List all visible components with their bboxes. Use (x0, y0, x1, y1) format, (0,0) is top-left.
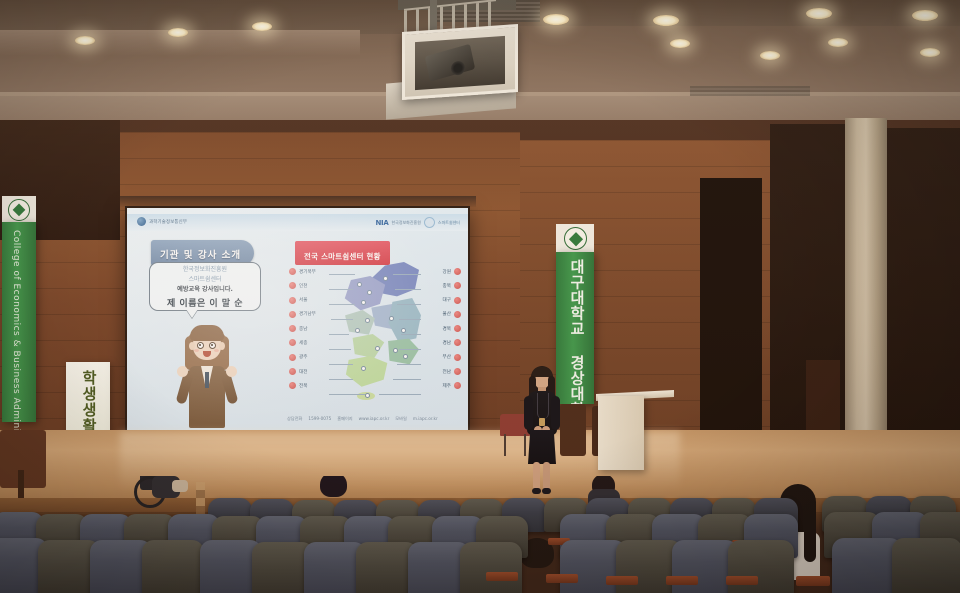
footer-mobile-label: 모바일 (395, 416, 407, 422)
map-pin-icon (454, 282, 461, 289)
seat[interactable] (460, 542, 522, 593)
ceiling-vent-2 (690, 86, 810, 96)
map-pin-icon (289, 311, 296, 318)
instructor-cartoon-illustration (174, 320, 240, 430)
map-pin-icon (454, 268, 461, 275)
map-leader-line (393, 379, 421, 380)
ceiling-light (653, 15, 679, 26)
map-pin-icon (289, 282, 296, 289)
ceiling-light (760, 51, 780, 60)
map-leader-line (329, 289, 353, 290)
map-label-text: 서울 (299, 297, 307, 303)
map-label-item: 전북 (289, 382, 307, 389)
structural-pillar (845, 118, 887, 448)
korea-map-panel: 경기북부 인천 서울 경기남부 충남 세종 광주 대전 전북 강원 충북 대구 … (287, 256, 463, 421)
map-label-item: 제주 (443, 382, 461, 389)
map-pin-icon (289, 339, 296, 346)
seat-armrest (546, 574, 578, 583)
map-leader-line (379, 394, 421, 395)
presenter-dress (528, 430, 556, 464)
map-label-item: 광주 (289, 354, 307, 361)
map-region-jeonnam (345, 356, 391, 388)
speech-bubble: 한국정보화진흥원 스마트쉼센터 예방교육 강사입니다. 제 이름은 이 말 순 (149, 262, 261, 311)
map-label-item: 충남 (289, 325, 307, 332)
map-label-text: 부산 (443, 354, 451, 360)
nia-logo-text: NIA (375, 219, 388, 227)
map-leader-line (399, 349, 421, 350)
map-label-text: 대전 (299, 369, 307, 375)
map-pin-icon (454, 354, 461, 361)
ceiling-light (912, 10, 938, 21)
map-label-text: 전남 (443, 369, 451, 375)
map-label-item: 경기남부 (289, 311, 316, 318)
map-label-item: 강원 (443, 268, 461, 275)
map-labels-right: 강원 충북 대구 울산 경북 경남 부산 전남 제주 (443, 268, 461, 389)
ministry-logo-icon (137, 217, 146, 226)
map-leader-line (331, 319, 353, 320)
banner-daegu-university-text: 대구대학교 경상대학 (567, 259, 588, 417)
cartoon-hand-right (226, 366, 237, 377)
attendee-arm (172, 480, 188, 492)
map-leader-line (397, 364, 421, 365)
seat[interactable] (892, 538, 960, 593)
presentation-slide: 과학기술정보통신부 NIA 한국정보화진흥원 스마트쉼센터 기관 및 강사 소개… (127, 208, 468, 436)
audience-seating (0, 476, 960, 593)
seat-armrest (486, 572, 518, 581)
ceiling-light (806, 8, 832, 19)
map-pin-icon (454, 339, 461, 346)
map-label-item: 전남 (443, 368, 461, 375)
map-leader-line (329, 379, 353, 380)
map-label-item: 서울 (289, 297, 307, 304)
seat[interactable] (142, 540, 204, 593)
cartoon-ear-right (219, 342, 225, 350)
map-label-text: 제주 (443, 383, 451, 389)
map-leader-line (329, 334, 349, 335)
korea-map-graphic (335, 262, 419, 402)
ceiling-recess-left (0, 0, 430, 34)
map-pin-icon (289, 297, 296, 304)
map-leader-line (329, 394, 365, 395)
nia-logo-subtext: 한국정보화진흥원 (391, 220, 420, 226)
auditorium-scene: College of Economics & Business Administ… (0, 0, 960, 593)
map-pin-icon (289, 268, 296, 275)
map-label-item: 인천 (289, 282, 307, 289)
ceiling-light (828, 38, 848, 47)
map-label-text: 전북 (299, 383, 307, 389)
map-label-text: 광주 (299, 354, 307, 360)
footer-phone: 1599-0075 (308, 416, 331, 422)
ceiling-light (168, 28, 188, 37)
smartshim-logo-icon (424, 217, 435, 228)
ceiling-light (920, 48, 940, 57)
map-leader-line (399, 319, 421, 320)
map-pin-icon (289, 354, 296, 361)
stage-wooden-chair (560, 404, 586, 456)
attendee-hair-strand (804, 514, 816, 562)
projection-screen: 과학기술정보통신부 NIA 한국정보화진흥원 스마트쉼센터 기관 및 강사 소개… (127, 208, 468, 436)
cartoon-tie (205, 372, 209, 388)
presenter-arm-right (551, 396, 560, 430)
map-label-text: 대구 (443, 297, 451, 303)
footer-mobile: m.iapc.or.kr (413, 416, 438, 422)
ceiling-light (670, 39, 690, 48)
map-pin-icon (289, 368, 296, 375)
ceiling-light (75, 36, 95, 45)
lectern (598, 396, 644, 470)
speech-instructor-name: 제 이름은 이 말 순 (167, 296, 243, 309)
map-pin-icon (289, 382, 296, 389)
ceiling-light (543, 14, 569, 25)
footer-site-label: 홈페이지 (337, 416, 352, 422)
map-label-text: 울산 (443, 311, 451, 317)
map-pin-icon (454, 325, 461, 332)
map-label-item: 충북 (443, 282, 461, 289)
cartoon-cheek-right (214, 349, 219, 352)
presenter-id-badge (539, 418, 545, 426)
map-leader-line (401, 334, 421, 335)
cartoon-pupil-left (199, 344, 201, 346)
stage-chair-leg (504, 434, 506, 456)
map-label-text: 경북 (443, 326, 451, 332)
map-leader-line (329, 304, 355, 305)
map-region-gyeongbuk (387, 298, 421, 346)
map-pin-icon (454, 311, 461, 318)
ministry-logo: 과학기술정보통신부 (137, 217, 187, 226)
map-leader-line (329, 349, 351, 350)
slide-title-text: 기관 및 강사 소개 (160, 250, 241, 261)
map-label-item: 대구 (443, 297, 461, 304)
map-label-item: 경북 (443, 325, 461, 332)
map-labels-left: 경기북부 인천 서울 경기남부 충남 세종 광주 대전 전북 (289, 268, 316, 389)
map-label-text: 충남 (299, 326, 307, 332)
map-leader-line (329, 274, 355, 275)
seat-armrest (796, 576, 830, 586)
map-label-item: 경남 (443, 339, 461, 346)
wall-trim-right (806, 360, 840, 438)
seat-armrest (726, 576, 758, 585)
ministry-logo-text: 과학기술정보통신부 (149, 219, 187, 225)
nia-logo-group: NIA 한국정보화진흥원 스마트쉼센터 (375, 217, 460, 228)
map-label-text: 경기북부 (299, 269, 316, 275)
presenter-lanyard (537, 393, 549, 419)
map-pin-icon (454, 368, 461, 375)
map-pin-icon (289, 325, 296, 332)
map-pin-icon (454, 382, 461, 389)
attendee-head (320, 476, 347, 497)
ceiling-light (252, 22, 272, 31)
presenter-arm-left (524, 396, 533, 430)
map-label-item: 대전 (289, 368, 307, 375)
map-label-text: 인천 (299, 283, 307, 289)
smartshim-logo-text: 스마트쉼센터 (438, 220, 460, 226)
seat-armrest (666, 576, 698, 585)
speech-line-2: 스마트쉼센터 (188, 274, 221, 283)
speech-line-1: 한국정보화진흥원 (183, 264, 227, 273)
map-center-marker (375, 346, 380, 351)
university-crest-icon-right (564, 227, 587, 250)
cartoon-hair-top (190, 325, 224, 341)
cartoon-pupil-right (211, 344, 213, 346)
map-label-text: 충북 (443, 283, 451, 289)
map-leader-line (329, 364, 353, 365)
cartoon-cheek-left (194, 349, 199, 352)
footer-site: www.iapc.or.kr (359, 416, 390, 422)
seat-armrest (606, 576, 638, 585)
map-label-item: 울산 (443, 311, 461, 318)
map-label-item: 경기북부 (289, 268, 316, 275)
footer-phone-label: 상담전화 (287, 416, 302, 422)
map-leader-line (397, 304, 421, 305)
map-label-item: 세종 (289, 339, 307, 346)
map-label-text: 경기남부 (299, 311, 316, 317)
wall-dark-panel-right (884, 128, 960, 444)
banner-college-english: College of Economics & Business Administ… (2, 222, 36, 422)
map-pin-icon (454, 297, 461, 304)
map-label-text: 강원 (443, 269, 451, 275)
map-label-item: 부산 (443, 354, 461, 361)
projector-lift-cage (402, 24, 518, 100)
doorway-dark (700, 178, 762, 440)
map-leader-line (393, 274, 421, 275)
cartoon-hand-left (177, 366, 188, 377)
slide-footer-contact: 상담전화 1599-0075 홈페이지 www.iapc.or.kr 모바일 m… (287, 416, 467, 422)
map-leader-line (395, 289, 421, 290)
seat[interactable] (728, 540, 794, 593)
university-crest-icon (8, 199, 30, 221)
map-label-text: 경남 (443, 340, 451, 346)
map-label-text: 세종 (299, 340, 307, 346)
speech-line-3: 예방교육 강사입니다. (177, 284, 233, 293)
